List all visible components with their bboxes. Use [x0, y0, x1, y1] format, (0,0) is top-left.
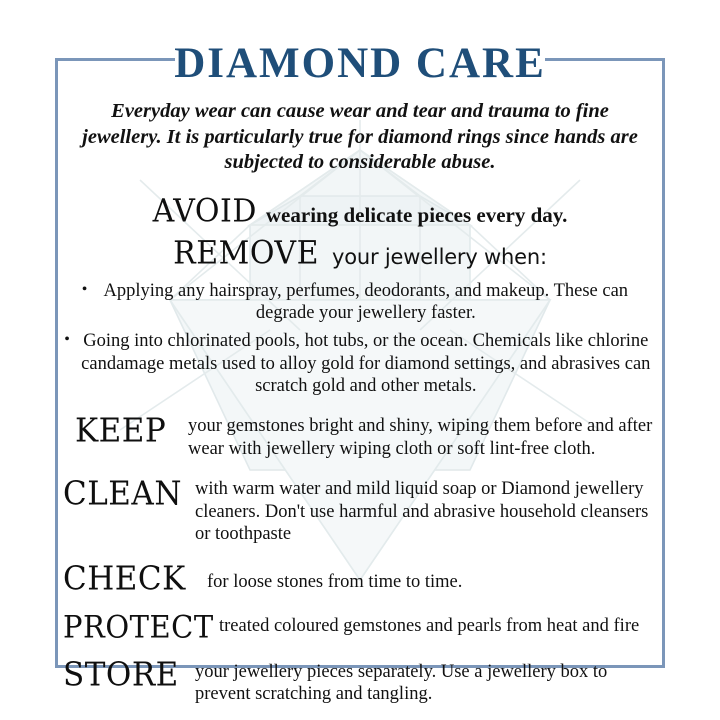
protect-body-text: treated coloured gemstones and pearls fr…	[207, 615, 665, 638]
check-body-text: for loose stones from time to time.	[193, 571, 665, 594]
diamond-care-poster: DIAMOND CARE Everyday wear can cause wea…	[0, 0, 720, 720]
bullet-text: Applying any hairspray, perfumes, deodor…	[93, 280, 638, 324]
section-check: CHECK for loose stones from time to time…	[55, 564, 665, 595]
avoid-body-text: wearing delicate pieces every day.	[257, 203, 568, 229]
store-body-text: your jewellery pieces separately. Use a …	[183, 661, 665, 706]
keyword-keep: KEEP	[63, 415, 180, 448]
clean-body-text: with warm water and mild liquid soap or …	[189, 478, 665, 546]
poster-content: DIAMOND CARE Everyday wear can cause wea…	[55, 40, 665, 705]
section-protect: PROTECT treated coloured gemstones and p…	[55, 613, 665, 642]
intro-paragraph: Everyday wear can cause wear and tear an…	[77, 99, 643, 176]
bullet-dot-icon: •	[64, 330, 76, 350]
page-title: DIAMOND CARE	[55, 40, 665, 85]
keyword-protect: PROTECT	[63, 612, 207, 643]
keyword-remove: REMOVE	[173, 239, 319, 271]
section-clean: CLEAN with warm water and mild liquid so…	[55, 478, 665, 546]
keyword-avoid: AVOID	[153, 196, 257, 228]
section-store: STORE your jewellery pieces separately. …	[55, 660, 665, 705]
keep-body-text: your gemstones bright and shiny, wiping …	[180, 415, 665, 460]
bullet-text: Going into chlorinated pools, hot tubs, …	[76, 330, 656, 397]
section-remove: REMOVE your jewellery when:	[55, 240, 665, 271]
bullet-dot-icon: •	[82, 280, 94, 300]
keyword-store: STORE	[63, 659, 183, 692]
remove-body-text: your jewellery when:	[319, 245, 547, 271]
remove-bullet-list: • Applying any hairspray, perfumes, deod…	[55, 280, 665, 397]
list-item: • Applying any hairspray, perfumes, deod…	[55, 280, 665, 324]
keyword-clean: CLEAN	[63, 478, 189, 511]
section-keep: KEEP your gemstones bright and shiny, wi…	[55, 415, 665, 460]
list-item: • Going into chlorinated pools, hot tubs…	[55, 330, 665, 397]
section-avoid: AVOID wearing delicate pieces every day.	[55, 198, 665, 229]
keyword-check: CHECK	[63, 563, 193, 596]
